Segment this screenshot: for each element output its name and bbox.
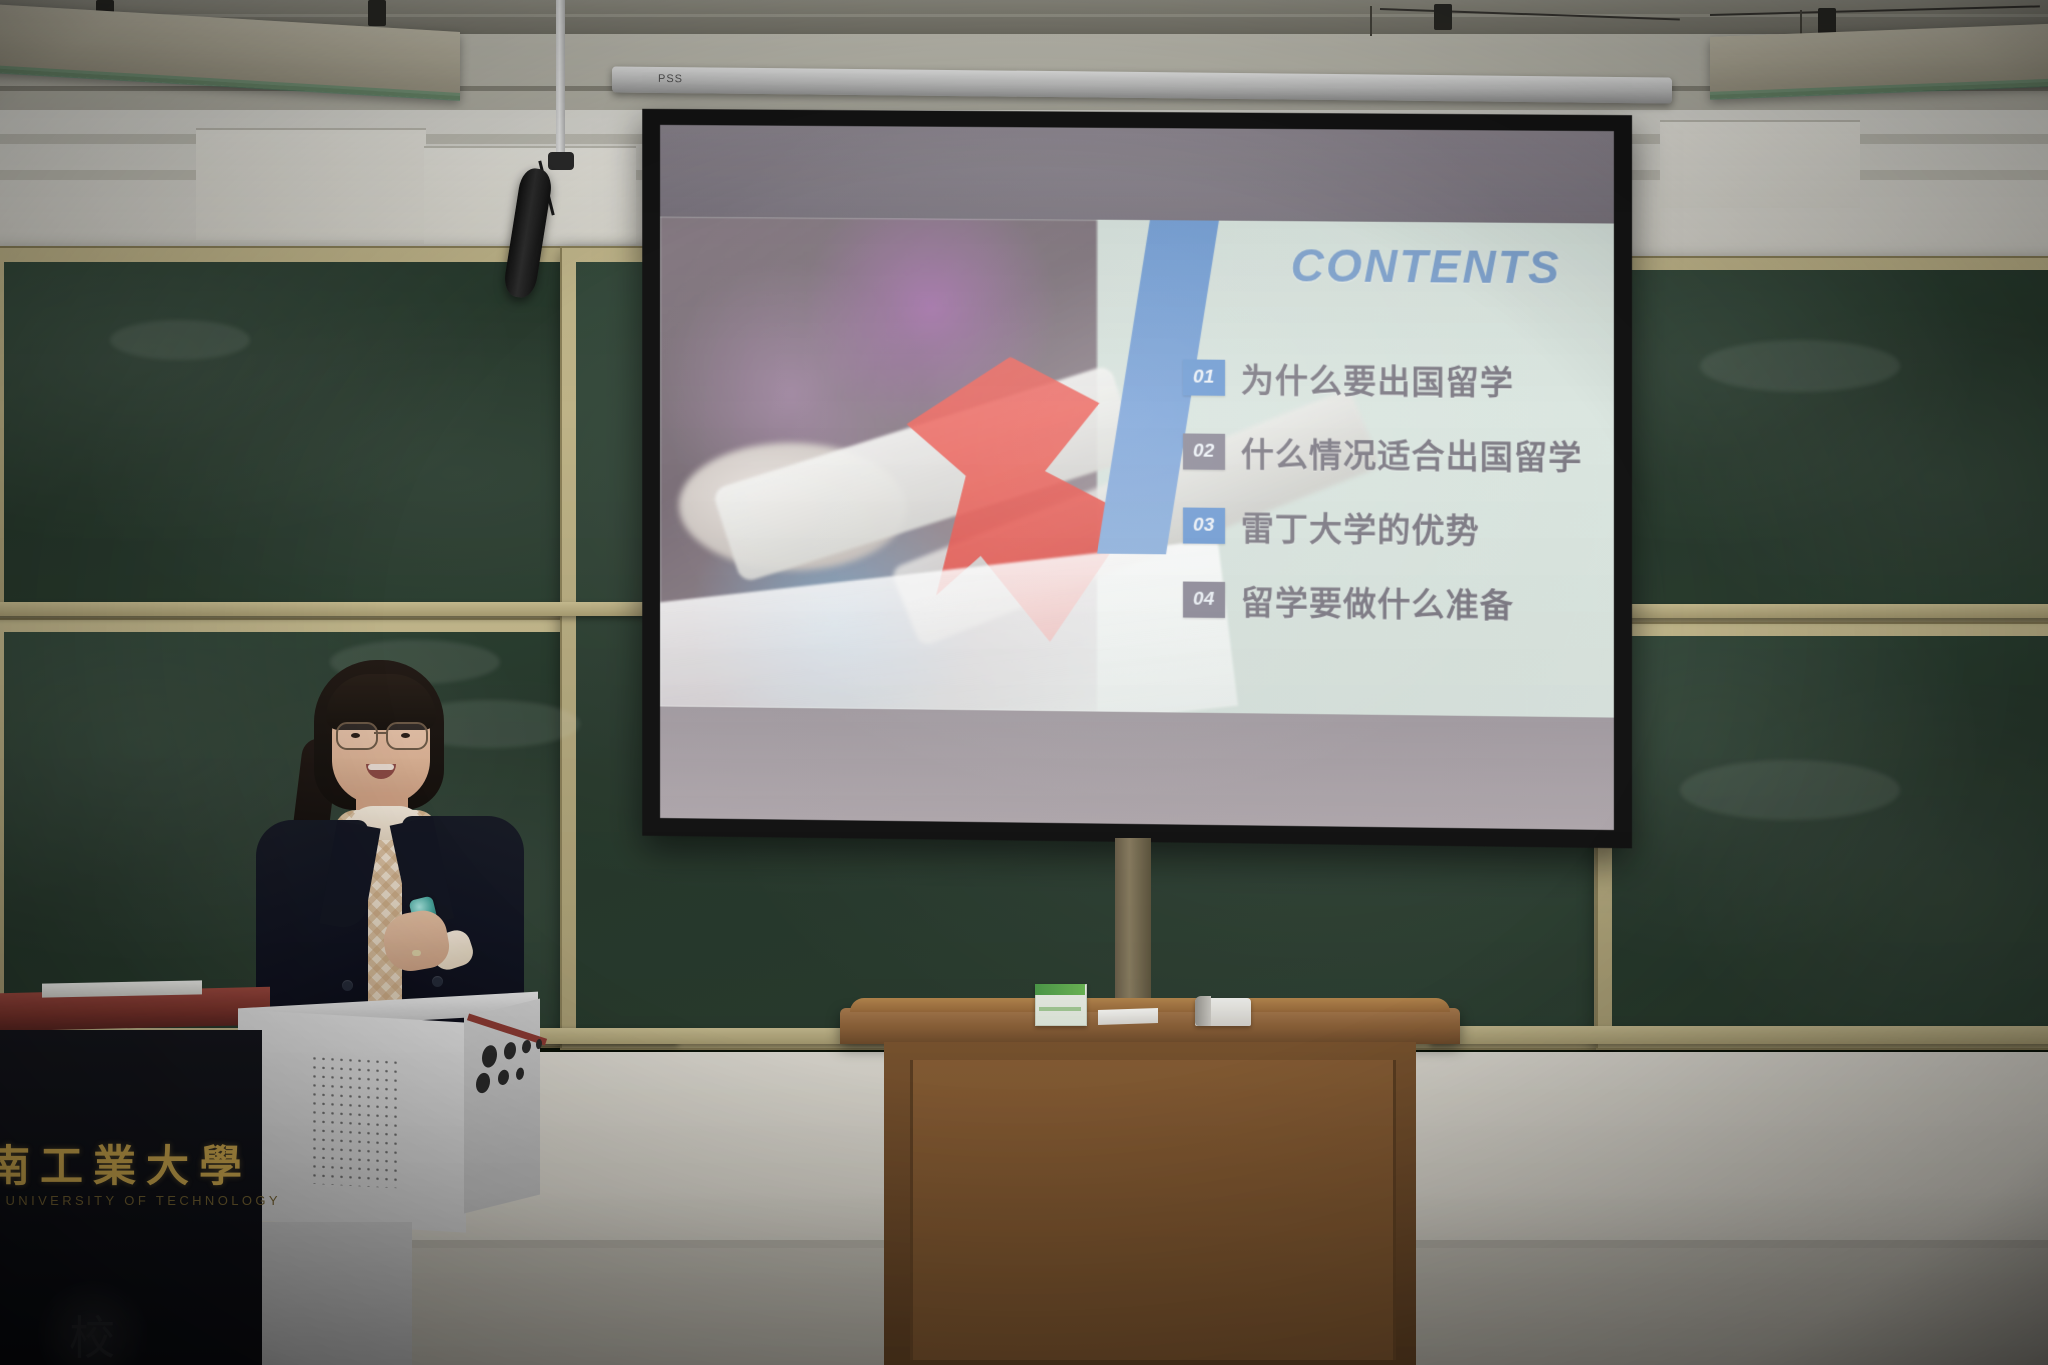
glasses-icon	[334, 722, 430, 746]
blackboard-surface-right	[1612, 636, 2048, 1032]
presenter-teeth	[368, 764, 394, 770]
chalk-smudge	[1700, 340, 1900, 392]
toc-label-02: 什么情况适合出国留学	[1241, 428, 1583, 479]
banner-english-title: HENAN UNIVERSITY OF TECHNOLOGY	[0, 1193, 281, 1208]
toc-label-04: 留学要做什么准备	[1241, 576, 1514, 627]
toc-label-03: 雷丁大学的优势	[1241, 502, 1480, 552]
slide-top-band	[660, 125, 1614, 224]
screen-support-post	[1115, 838, 1151, 1013]
glasses-lens-right	[386, 722, 428, 750]
podium-speaker-grille-icon	[310, 1054, 398, 1189]
glasses-lens-left	[336, 722, 378, 750]
vent-hole	[504, 1041, 516, 1061]
glasses-bridge	[374, 732, 388, 734]
podium[interactable]	[238, 1000, 538, 1235]
chalk-rail-upper-right	[1596, 604, 2048, 618]
chalk-smudge	[1680, 760, 1900, 820]
presenter	[236, 660, 536, 1032]
chalk-smudge	[110, 320, 250, 360]
toc-badge-01: 01	[1183, 359, 1225, 395]
toc-badge-02: 02	[1183, 433, 1225, 469]
toc-badge-03: 03	[1183, 507, 1225, 543]
projection-screen[interactable]: CONTENTS 01 为什么要出国留学 02 什么情况适合出国留学 03	[642, 109, 1632, 849]
podium-base	[262, 1222, 412, 1365]
ceiling-wire-drop-2	[1370, 6, 1372, 36]
toc-item-02[interactable]: 02 什么情况适合出国留学	[1183, 427, 1585, 479]
banner-chinese-title: 河南工業大學	[0, 1132, 252, 1194]
chalk-rail-right	[1430, 1026, 2048, 1044]
toc-item-01[interactable]: 01 为什么要出国留学	[1183, 353, 1585, 405]
ceiling-light-fixture-right	[1710, 23, 2048, 99]
microphone-joint	[548, 152, 574, 170]
vent-hole	[536, 1038, 542, 1049]
venue-banner: 河南工業大學 HENAN UNIVERSITY OF TECHNOLOGY 校	[0, 1030, 262, 1365]
light-mount-center	[368, 0, 386, 26]
blackboard-surface-upper-right	[1616, 270, 2048, 604]
presenter-ring	[412, 950, 421, 956]
slide-table-of-contents: 01 为什么要出国留学 02 什么情况适合出国留学 03 雷丁大学的优势	[1183, 353, 1585, 627]
front-table-panel	[910, 1060, 1396, 1360]
light-mount-far-right	[1818, 8, 1836, 34]
vent-hole	[522, 1039, 531, 1054]
chalk-rail-upper-left	[0, 602, 652, 616]
toc-item-03[interactable]: 03 雷丁大学的优势	[1183, 501, 1585, 553]
paper-roll-fold	[1195, 996, 1211, 1026]
banner-seal-icon: 校	[32, 1280, 152, 1365]
vent-hole	[476, 1071, 490, 1094]
toc-label-01: 为什么要出国留学	[1241, 354, 1514, 404]
coat-button-2	[432, 976, 443, 987]
green-box-line	[1039, 1007, 1081, 1011]
microphone-pole	[556, 0, 565, 160]
wall-patch-right	[1660, 120, 1860, 208]
slide-content-area: CONTENTS 01 为什么要出国留学 02 什么情况适合出国留学 03	[660, 217, 1614, 718]
blackboard-surface-upper-left	[4, 262, 632, 602]
presentation-slide: CONTENTS 01 为什么要出国留学 02 什么情况适合出国留学 03	[660, 125, 1614, 830]
desk-item-paper-card[interactable]	[1098, 1008, 1158, 1025]
vent-hole	[516, 1067, 524, 1081]
vent-hole	[482, 1043, 497, 1069]
coat-button-1	[342, 980, 353, 991]
light-mount-right	[1434, 4, 1452, 30]
projection-screen-surface: CONTENTS 01 为什么要出国留学 02 什么情况适合出国留学 03	[660, 125, 1614, 830]
vent-hole	[498, 1068, 509, 1086]
roller-label: PSS	[658, 73, 683, 85]
slide-heading: CONTENTS	[1291, 238, 1561, 294]
lecture-hall-scene: PSS CONTENTS 01 为什	[0, 0, 2048, 1365]
toc-badge-04: 04	[1183, 581, 1225, 617]
slide-bottom-band	[660, 706, 1614, 830]
presenter-eye-left	[351, 733, 360, 738]
green-box-stripe	[1035, 984, 1085, 995]
wall-patch-left	[196, 128, 426, 240]
presenter-eye-right	[401, 733, 410, 738]
toc-item-04[interactable]: 04 留学要做什么准备	[1183, 575, 1585, 627]
